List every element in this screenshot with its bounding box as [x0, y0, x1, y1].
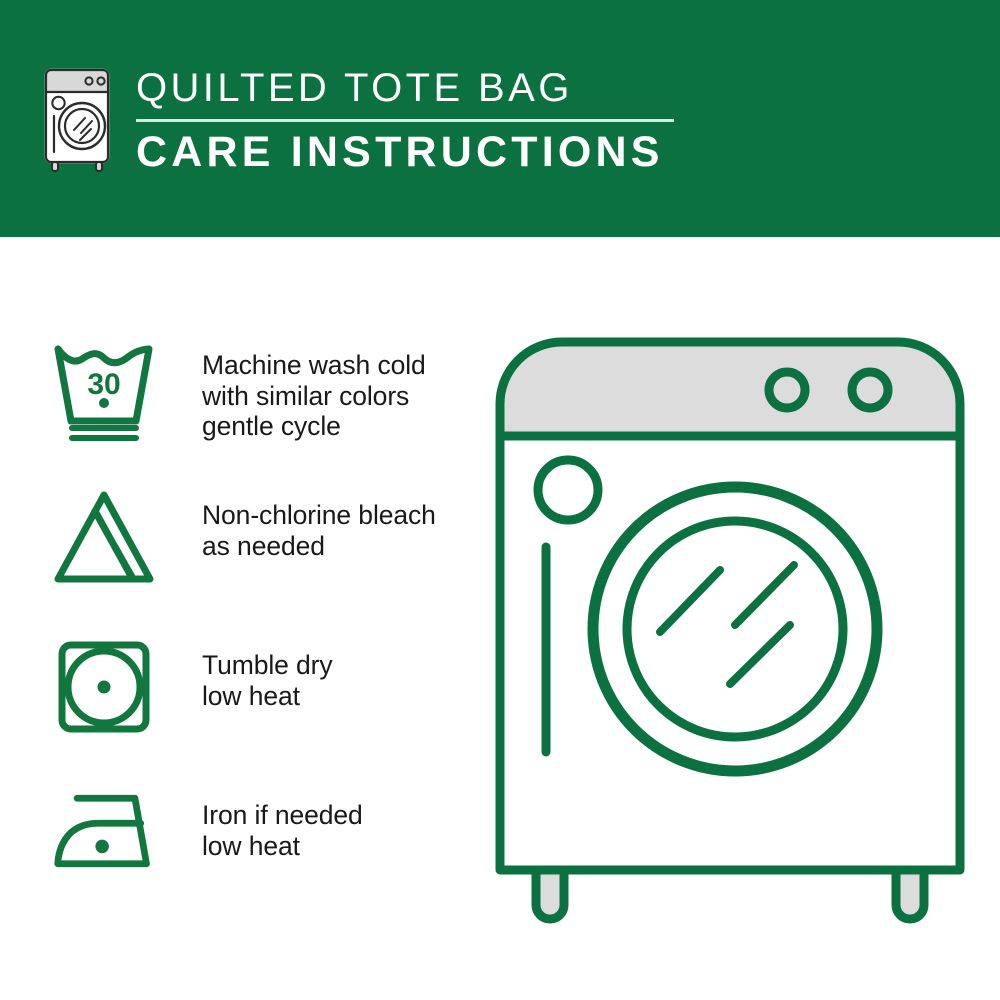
- list-item: Non-chlorine bleach as needed: [52, 487, 472, 637]
- instruction-text: Machine wash cold with similar colors ge…: [160, 337, 426, 442]
- header-band: QUILTED TOTE BAG CARE INSTRUCTIONS: [0, 0, 1000, 237]
- washing-machine-icon: [42, 66, 114, 174]
- header-content: QUILTED TOTE BAG CARE INSTRUCTIONS: [42, 66, 674, 175]
- tumble-dry-low-icon: [52, 639, 156, 737]
- iron-low-heat-icon: [52, 789, 160, 873]
- instruction-line: low heat: [202, 681, 333, 712]
- page-title-main: CARE INSTRUCTIONS: [136, 131, 674, 175]
- instruction-icon-slot: 30: [52, 337, 160, 442]
- instruction-icon-slot: [52, 787, 160, 873]
- instruction-icon-slot: [52, 487, 160, 585]
- wash-temperature-label: 30: [87, 368, 120, 401]
- instruction-text: Iron if needed low heat: [160, 787, 363, 861]
- instruction-text: Tumble dry low heat: [160, 637, 333, 711]
- front-load-washing-machine: [490, 332, 970, 932]
- instruction-line: as needed: [202, 531, 436, 562]
- title-divider: [136, 119, 674, 122]
- care-instruction-list: 30 Machine wash cold with similar colors…: [52, 337, 472, 937]
- bleach-triangle-icon: [52, 489, 156, 585]
- instruction-text: Non-chlorine bleach as needed: [160, 487, 436, 561]
- list-item: 30 Machine wash cold with similar colors…: [52, 337, 472, 487]
- instruction-line: with similar colors: [202, 381, 426, 412]
- instruction-line: Non-chlorine bleach: [202, 500, 436, 531]
- list-item: Tumble dry low heat: [52, 637, 472, 787]
- instruction-line: Tumble dry: [202, 650, 333, 681]
- instruction-line: gentle cycle: [202, 411, 426, 442]
- content-area: 30 Machine wash cold with similar colors…: [0, 237, 1000, 1000]
- page-title-product: QUILTED TOTE BAG: [136, 68, 674, 109]
- header-title-block: QUILTED TOTE BAG CARE INSTRUCTIONS: [136, 66, 674, 175]
- wash-tub-30-icon: 30: [52, 339, 156, 442]
- instruction-line: low heat: [202, 831, 363, 862]
- instruction-line: Machine wash cold: [202, 350, 426, 381]
- leg-left: [536, 870, 564, 919]
- instruction-icon-slot: [52, 637, 160, 737]
- instruction-line: Iron if needed: [202, 800, 363, 831]
- list-item: Iron if needed low heat: [52, 787, 472, 937]
- leg-right: [896, 870, 924, 919]
